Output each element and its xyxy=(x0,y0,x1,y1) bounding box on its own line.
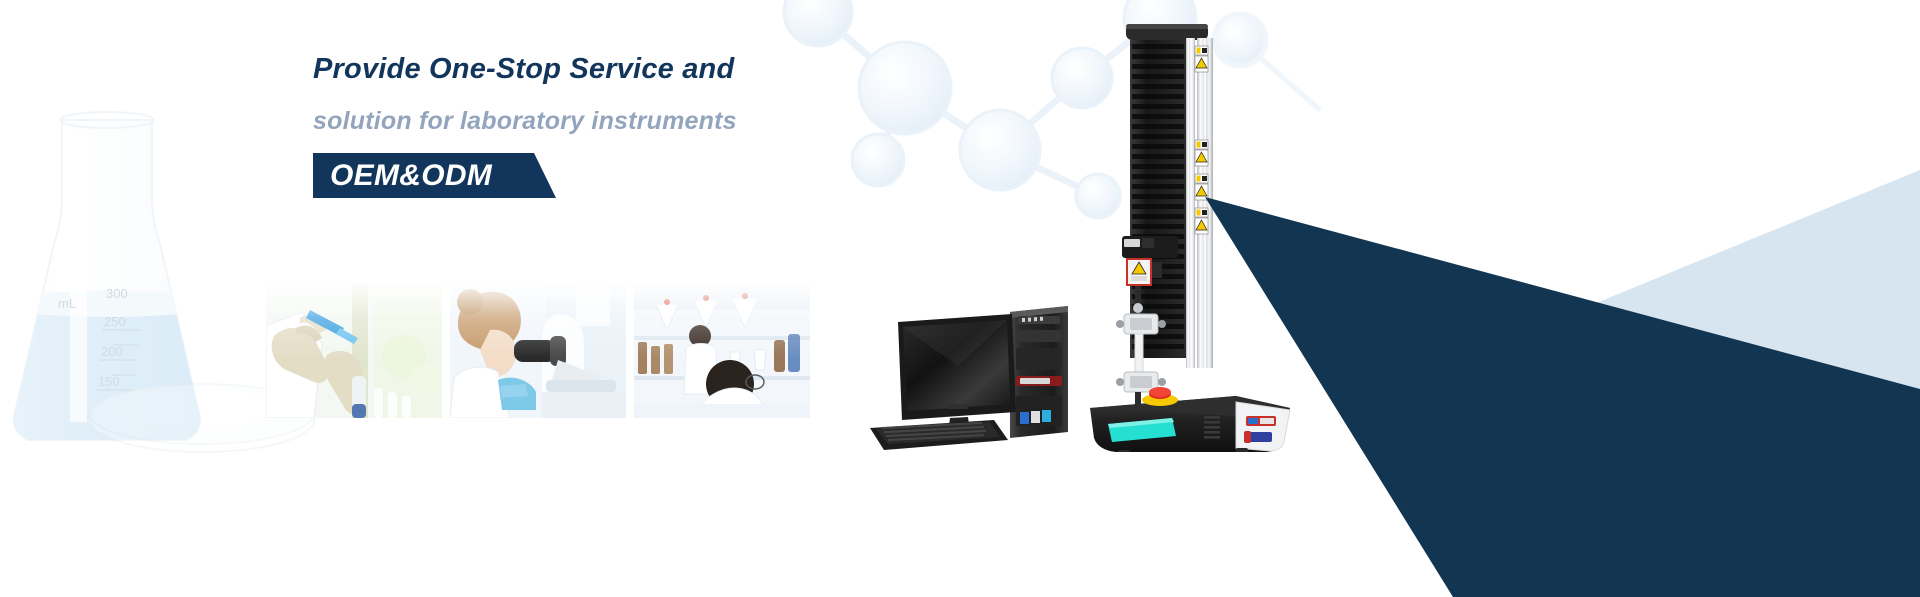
photo-fade xyxy=(266,284,442,418)
desktop-computer xyxy=(862,300,1082,450)
svg-text:300: 300 xyxy=(106,286,128,301)
headline-line-2: solution for laboratory instruments xyxy=(313,109,953,134)
headline-line-1: Provide One-Stop Service and xyxy=(313,55,953,84)
photo-pipetting xyxy=(266,284,442,418)
photo-strip xyxy=(266,284,810,418)
oem-odm-badge-label: OEM&ODM xyxy=(313,159,492,193)
svg-text:mL: mL xyxy=(58,296,76,311)
pc-tower xyxy=(1010,306,1068,438)
crosshead xyxy=(1122,236,1178,258)
hero-banner: 300 250 200 150 mL Provide One-Stop Serv… xyxy=(0,0,1920,597)
oem-odm-badge-wrap: OEM&ODM xyxy=(313,153,573,198)
monitor xyxy=(898,314,1016,440)
photo-fade xyxy=(450,284,626,418)
oem-odm-badge: OEM&ODM xyxy=(313,153,556,198)
svg-text:150: 150 xyxy=(98,374,120,389)
svg-text:200: 200 xyxy=(101,344,123,359)
headline-block: Provide One-Stop Service and solution fo… xyxy=(313,55,953,198)
keyboard xyxy=(870,420,1008,450)
photo-lab-bench xyxy=(634,284,810,418)
photo-microscope xyxy=(450,284,626,418)
machine-base xyxy=(1090,387,1290,452)
svg-text:250: 250 xyxy=(104,314,126,329)
photo-fade xyxy=(634,284,810,418)
